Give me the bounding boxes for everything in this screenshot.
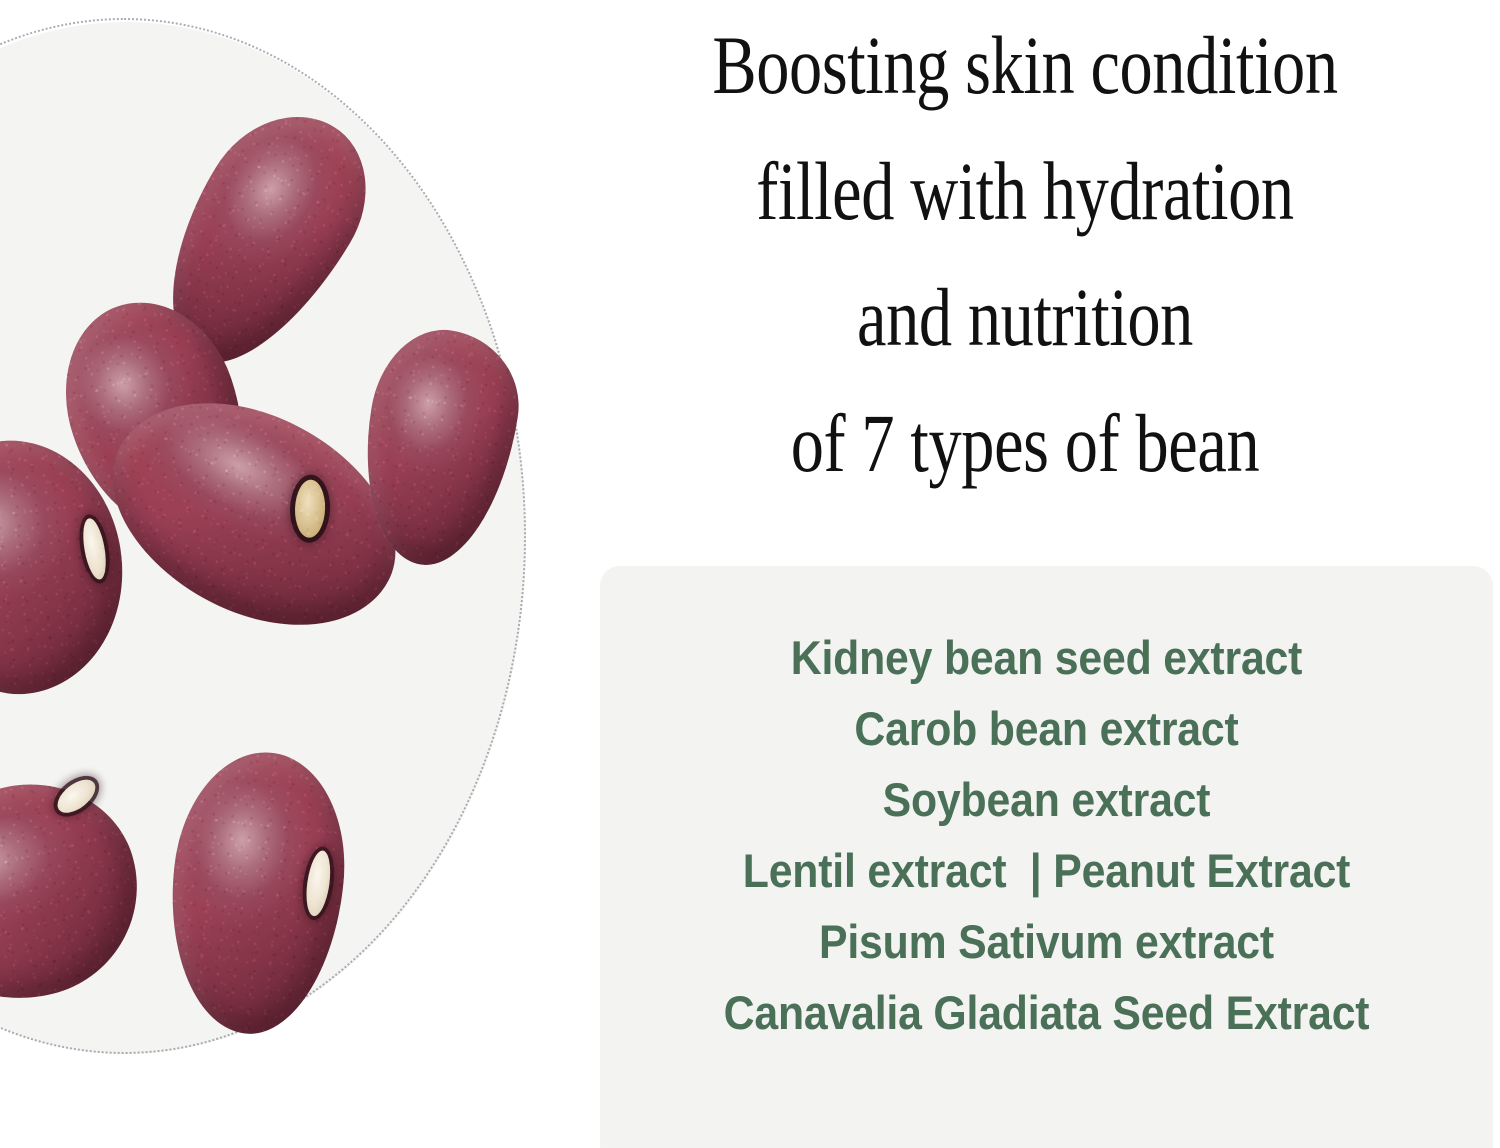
bean-cluster xyxy=(0,0,600,1148)
bean-hilum-icon xyxy=(294,479,326,538)
headline-line-3: and nutrition xyxy=(653,254,1397,380)
ingredient-list: Kidney bean seed extract Carob bean extr… xyxy=(640,622,1453,1048)
ingredient-item-lentil-peanut-extract: Lentil extract | Peanut Extract xyxy=(640,835,1453,906)
headline-line-2: filled with hydration xyxy=(653,128,1397,254)
ingredient-item-pisum-sativum-extract: Pisum Sativum extract xyxy=(640,906,1453,977)
ingredient-card: Kidney bean seed extract Carob bean extr… xyxy=(600,566,1493,1148)
headline: Boosting skin condition filled with hydr… xyxy=(653,2,1397,506)
ingredient-item-canavalia-gladiata-seed-extract: Canavalia Gladiata Seed Extract xyxy=(640,977,1453,1048)
product-banner: Boosting skin condition filled with hydr… xyxy=(0,0,1500,1148)
bean-bottom-left xyxy=(0,761,160,1022)
bean-hilum-icon xyxy=(52,773,101,819)
headline-line-1: Boosting skin condition xyxy=(653,2,1397,128)
ingredient-item-soybean-extract: Soybean extract xyxy=(640,764,1453,835)
headline-line-4: of 7 types of bean xyxy=(653,380,1397,506)
ingredient-item-carob-bean-extract: Carob bean extract xyxy=(640,693,1453,764)
bean-hilum-icon xyxy=(79,517,109,582)
bean-photo-panel xyxy=(0,0,600,1148)
bean-hilum-icon xyxy=(303,849,334,917)
ingredient-item-kidney-bean-seed-extract: Kidney bean seed extract xyxy=(640,622,1453,693)
bean-bottom-center xyxy=(158,744,357,1042)
